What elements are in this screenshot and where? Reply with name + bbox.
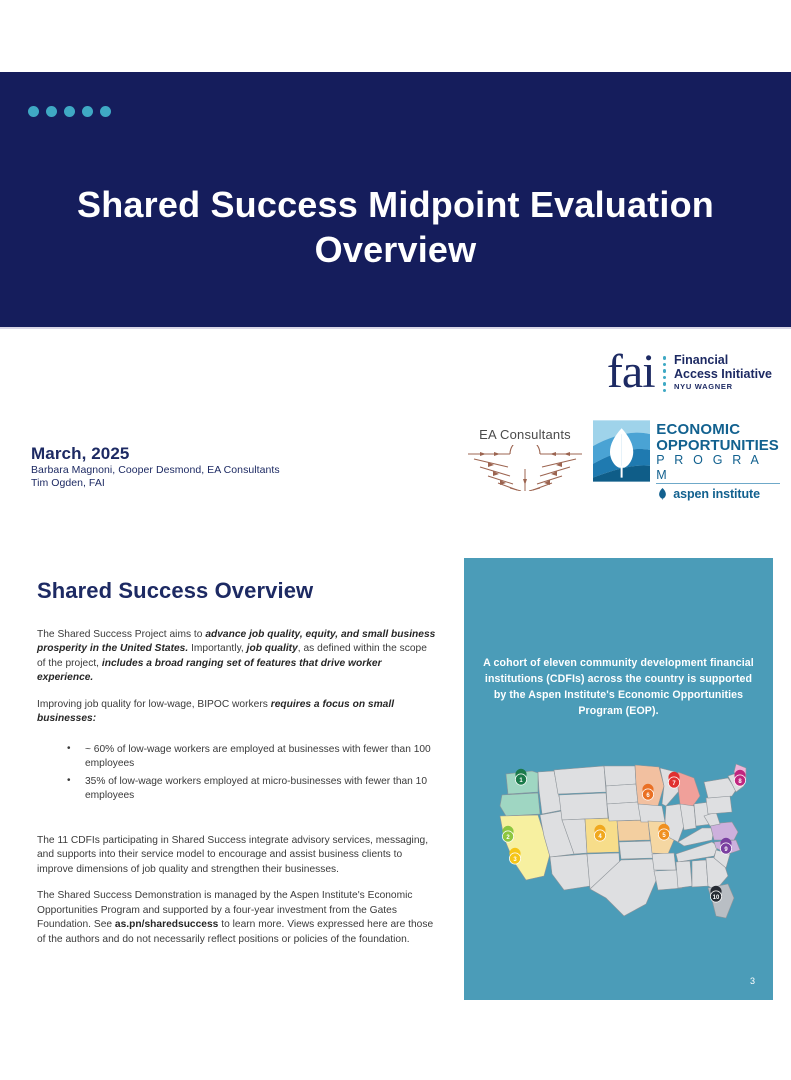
p1-seg-a: The Shared Success Project aims to (37, 629, 205, 640)
eop-logo: ECONOMIC OPPORTUNITIES P R O G R A M asp… (593, 420, 780, 501)
state-montana (554, 766, 606, 794)
publication-meta: March, 2025 Barbara Magnoni, Cooper Desm… (31, 444, 431, 491)
fai-dots-icon (663, 352, 667, 392)
shared-success-link[interactable]: as.pn/sharedsuccess (115, 919, 218, 930)
us-map-svg: 1 2 3 4 5 (488, 758, 750, 933)
overview-paragraph-1: The Shared Success Project aims to advan… (37, 628, 437, 686)
overview-paragraph-3: The 11 CDFIs participating in Shared Suc… (37, 834, 437, 877)
section-heading: Shared Success Overview (37, 578, 437, 604)
fai-line-3: NYU WAGNER (674, 383, 772, 391)
fai-tagline: Financial Access Initiative NYU WAGNER (674, 353, 772, 391)
fai-logo: fai Financial Access Initiative NYU WAGN… (607, 348, 772, 396)
us-cohort-map: 1 2 3 4 5 (488, 758, 750, 933)
statistics-bullet-list: ~ 60% of low-wage workers are employed a… (37, 743, 437, 804)
ea-sunburst-icon (466, 445, 584, 491)
authors-line-2: Tim Ogden, FAI (31, 477, 431, 490)
aspen-leaf-small-icon (656, 487, 669, 500)
aspen-institute-tagline: aspen institute (656, 487, 780, 501)
dot-icon (46, 106, 57, 117)
p1-seg-d: job quality (247, 643, 298, 654)
overview-column: Shared Success Overview The Shared Succe… (37, 578, 437, 959)
dot-icon (82, 106, 93, 117)
overview-paragraph-2: Improving job quality for low-wage, BIPO… (37, 698, 437, 727)
state-mississippi (676, 861, 692, 888)
banner-divider (0, 327, 791, 329)
fai-wordmark: fai (607, 348, 655, 396)
map-marker-group-8[interactable]: 8 (734, 770, 745, 786)
state-oregon (500, 793, 540, 816)
cohort-caption: A cohort of eleven community development… (482, 656, 755, 720)
eop-text-block: ECONOMIC OPPORTUNITIES P R O G R A M asp… (656, 420, 780, 501)
aspen-institute-label: aspen institute (673, 487, 760, 501)
ea-consultants-wordmark: EA Consultants (479, 427, 571, 442)
list-item: ~ 60% of low-wage workers are employed a… (37, 743, 437, 772)
map-marker-label-10: 10 (713, 895, 720, 901)
state-pennsylvania (706, 796, 732, 814)
dot-icon (64, 106, 75, 117)
state-iowa (638, 804, 665, 822)
state-nebraska (607, 802, 641, 821)
map-marker-group-6[interactable]: 6 (642, 784, 653, 800)
state-oklahoma (619, 841, 654, 859)
map-marker-group-5[interactable]: 5 (658, 824, 669, 840)
page-number: 3 (750, 976, 755, 986)
state-kansas (617, 820, 650, 841)
state-arkansas (652, 853, 676, 870)
authors-line-1: Barbara Magnoni, Cooper Desmond, EA Cons… (31, 464, 431, 477)
overview-paragraph-4: The Shared Success Demonstration is mana… (37, 889, 437, 947)
eop-line-1: ECONOMIC (656, 422, 780, 438)
ea-consultants-logo: EA Consultants (460, 426, 590, 491)
map-marker-group-10[interactable]: 10 (710, 886, 721, 902)
eop-line-2: OPPORTUNITIES (656, 438, 780, 454)
cohort-panel: A cohort of eleven community development… (464, 558, 773, 1000)
title-banner: Shared Success Midpoint Evaluation Overv… (0, 72, 791, 327)
map-marker-group-4[interactable]: 4 (594, 825, 605, 841)
publication-date: March, 2025 (31, 444, 431, 464)
dot-icon (100, 106, 111, 117)
state-alabama (692, 860, 708, 887)
aspen-leaf-mark-icon (593, 420, 650, 482)
state-south-dakota (606, 784, 638, 804)
decorative-dots-row (28, 106, 111, 117)
state-wyoming (559, 793, 608, 820)
state-north-dakota (604, 766, 636, 786)
p1-seg-c: Importantly, (188, 643, 246, 654)
state-arizona (550, 854, 590, 890)
fai-line-1: Financial (674, 353, 772, 367)
logo-cluster: fai Financial Access Initiative NYU WAGN… (460, 348, 780, 498)
map-marker-group-2[interactable]: 2 (502, 826, 513, 842)
eop-line-3: P R O G R A M (656, 453, 780, 484)
list-item: 35% of low-wage workers employed at micr… (37, 775, 437, 804)
dot-icon (28, 106, 39, 117)
map-marker-group-1[interactable]: 1 (515, 769, 526, 785)
map-marker-group-3[interactable]: 3 (509, 848, 520, 864)
page-title: Shared Success Midpoint Evaluation Overv… (0, 182, 791, 272)
fai-line-2: Access Initiative (674, 367, 772, 381)
map-marker-group-9[interactable]: 9 (720, 838, 731, 854)
map-marker-group-7[interactable]: 7 (668, 772, 679, 788)
p2-seg-a: Improving job quality for low-wage, BIPO… (37, 699, 271, 710)
